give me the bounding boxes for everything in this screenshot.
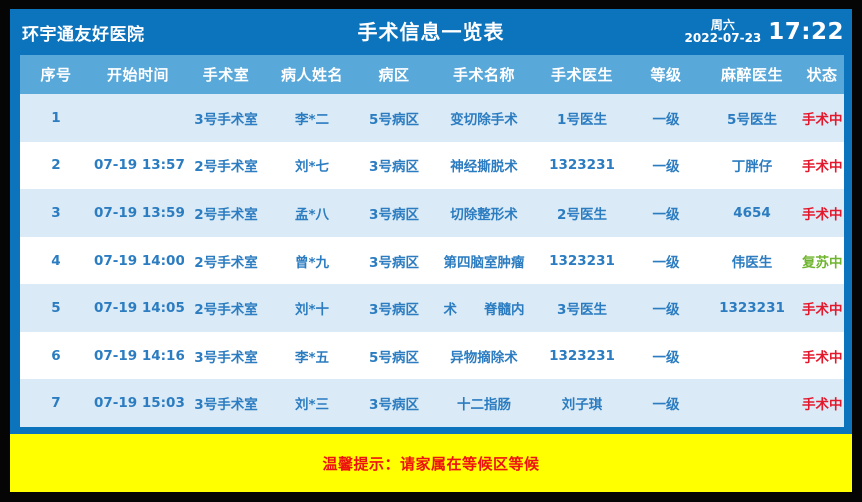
cell-ward: 3号病区	[356, 203, 432, 223]
cell-surgeon: 3号医生	[536, 298, 628, 318]
cell-status: 手术中	[800, 108, 844, 128]
cell-anesthetist: 1323231	[704, 300, 800, 316]
cell-ward: 3号病区	[356, 155, 432, 175]
notice-banner: 温馨提示：请家属在等候区等候	[10, 434, 852, 492]
cell-index: 4	[20, 253, 92, 269]
table-row[interactable]: 13号手术室李*二5号病区变切除手术1号医生一级5号医生手术中	[20, 94, 844, 142]
cell-surgery-name: 切除整形术	[432, 203, 536, 223]
display-screen-frame: 环宇通友好医院 手术信息一览表 周六 2022-07-23 17:22 序号 开…	[0, 0, 862, 502]
cell-surgery-name: 神经撕脱术	[432, 155, 536, 175]
board-top-bar: 环宇通友好医院 手术信息一览表 周六 2022-07-23 17:22	[10, 9, 852, 55]
cell-status: 复苏中	[800, 251, 844, 271]
cell-index: 3	[20, 205, 92, 221]
cell-surgery-name: 异物摘除术	[432, 346, 536, 366]
cell-room: 2号手术室	[184, 251, 268, 271]
column-header-level: 等级	[628, 64, 704, 85]
cell-patient-name: 刘*十	[268, 298, 356, 318]
surgery-info-board: 环宇通友好医院 手术信息一览表 周六 2022-07-23 17:22 序号 开…	[10, 9, 852, 492]
cell-room: 2号手术室	[184, 298, 268, 318]
cell-room: 2号手术室	[184, 203, 268, 223]
cell-index: 7	[20, 395, 92, 411]
date-label: 2022-07-23	[685, 32, 762, 45]
cell-status: 手术中	[800, 393, 844, 413]
date-stack: 周六 2022-07-23	[685, 19, 762, 44]
cell-patient-name: 刘*三	[268, 393, 356, 413]
notice-text: 温馨提示：请家属在等候区等候	[322, 453, 539, 474]
cell-status: 手术中	[800, 203, 844, 223]
cell-anesthetist: 丁胖仔	[704, 155, 800, 175]
cell-start-time: 07-19 13:57	[92, 157, 184, 173]
cell-surgeon: 1323231	[536, 253, 628, 269]
column-header-surgeon: 手术医生	[536, 64, 628, 85]
cell-surgeon: 1323231	[536, 157, 628, 173]
cell-patient-name: 孟*八	[268, 203, 356, 223]
column-header-status: 状态	[800, 64, 844, 85]
cell-ward: 5号病区	[356, 108, 432, 128]
cell-level: 一级	[628, 346, 704, 366]
cell-level: 一级	[628, 251, 704, 271]
column-header-index: 序号	[20, 64, 92, 85]
table-row[interactable]: 707-19 15:033号手术室刘*三3号病区十二指肠刘子琪一级手术中	[20, 379, 844, 427]
cell-index: 6	[20, 348, 92, 364]
column-header-room: 手术室	[184, 64, 268, 85]
table-row[interactable]: 407-19 14:002号手术室曾*九3号病区第四脑室肿瘤1323231一级伟…	[20, 237, 844, 285]
cell-status: 手术中	[800, 155, 844, 175]
cell-surgeon: 2号医生	[536, 203, 628, 223]
cell-start-time: 07-19 15:03	[92, 395, 184, 411]
cell-level: 一级	[628, 393, 704, 413]
cell-start-time: 07-19 14:16	[92, 348, 184, 364]
cell-room: 3号手术室	[184, 393, 268, 413]
cell-anesthetist: 5号医生	[704, 108, 800, 128]
table-body: 13号手术室李*二5号病区变切除手术1号医生一级5号医生手术中207-19 13…	[20, 94, 844, 427]
hospital-name: 环宇通友好医院	[22, 20, 145, 45]
cell-anesthetist: 伟医生	[704, 251, 800, 271]
cell-ward: 3号病区	[356, 251, 432, 271]
cell-surgery-name: 十二指肠	[432, 393, 536, 413]
cell-surgery-name: 第四脑室肿瘤	[432, 251, 536, 271]
cell-status: 手术中	[800, 298, 844, 318]
column-header-anesthetist: 麻醉医生	[704, 64, 800, 85]
cell-anesthetist: 4654	[704, 205, 800, 221]
cell-level: 一级	[628, 203, 704, 223]
cell-status: 手术中	[800, 346, 844, 366]
column-header-start-time: 开始时间	[92, 64, 184, 85]
cell-patient-name: 李*二	[268, 108, 356, 128]
cell-surgeon: 刘子琪	[536, 393, 628, 413]
column-header-patient-name: 病人姓名	[268, 64, 356, 85]
cell-index: 5	[20, 300, 92, 316]
cell-surgeon: 1323231	[536, 348, 628, 364]
cell-start-time: 07-19 13:59	[92, 205, 184, 221]
cell-ward: 5号病区	[356, 346, 432, 366]
datetime-block: 周六 2022-07-23 17:22	[685, 19, 844, 45]
clock-time: 17:22	[768, 19, 844, 45]
cell-room: 3号手术室	[184, 108, 268, 128]
cell-patient-name: 刘*七	[268, 155, 356, 175]
cell-ward: 3号病区	[356, 298, 432, 318]
cell-room: 2号手术室	[184, 155, 268, 175]
cell-start-time: 07-19 14:05	[92, 300, 184, 316]
cell-surgeon: 1号医生	[536, 108, 628, 128]
table-row[interactable]: 507-19 14:052号手术室刘*十3号病区术 脊髓内3号医生一级13232…	[20, 284, 844, 332]
column-header-ward: 病区	[356, 64, 432, 85]
cell-patient-name: 曾*九	[268, 251, 356, 271]
cell-level: 一级	[628, 298, 704, 318]
cell-ward: 3号病区	[356, 393, 432, 413]
cell-surgery-name: 术 脊髓内	[432, 298, 536, 318]
cell-start-time: 07-19 14:00	[92, 253, 184, 269]
cell-patient-name: 李*五	[268, 346, 356, 366]
cell-index: 2	[20, 157, 92, 173]
cell-room: 3号手术室	[184, 346, 268, 366]
cell-index: 1	[20, 110, 92, 126]
column-header-surgery-name: 手术名称	[432, 64, 536, 85]
cell-level: 一级	[628, 108, 704, 128]
cell-surgery-name: 变切除手术	[432, 108, 536, 128]
surgery-table: 序号 开始时间 手术室 病人姓名 病区 手术名称 手术医生 等级 麻醉医生 状态…	[20, 55, 844, 427]
table-row[interactable]: 307-19 13:592号手术室孟*八3号病区切除整形术2号医生一级4654手…	[20, 189, 844, 237]
cell-level: 一级	[628, 155, 704, 175]
table-row[interactable]: 207-19 13:572号手术室刘*七3号病区神经撕脱术1323231一级丁胖…	[20, 142, 844, 190]
table-header-row: 序号 开始时间 手术室 病人姓名 病区 手术名称 手术医生 等级 麻醉医生 状态	[20, 55, 844, 94]
table-row[interactable]: 607-19 14:163号手术室李*五5号病区异物摘除术1323231一级手术…	[20, 332, 844, 380]
